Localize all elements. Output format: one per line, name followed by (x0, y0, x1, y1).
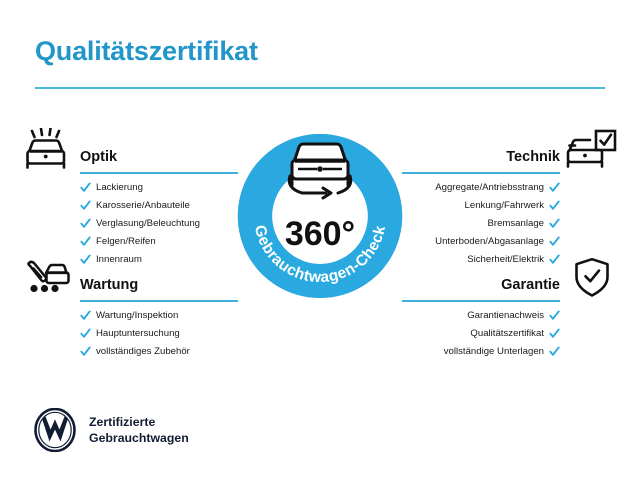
checklist: Aggregate/Antriebsstrang Lenkung/Fahrwer… (402, 182, 618, 265)
volkswagen-logo (33, 408, 77, 452)
list-item-label: Karosserie/Anbauteile (96, 201, 190, 211)
check-icon (80, 218, 91, 229)
check-icon (549, 310, 560, 321)
section-title: Wartung (80, 277, 138, 293)
car-checkbox-icon (566, 128, 618, 172)
footer-line-1: Zertifizierte (89, 414, 189, 430)
footer-logo-lockup: Zertifizierte Gebrauchtwagen (33, 408, 189, 452)
gebrauchtwagen-check-badge: 360° Gebrauchtwagen-Check (228, 112, 412, 312)
shield-check-icon (566, 256, 618, 300)
badge-degrees: 360° (285, 215, 355, 253)
list-item-label: vollständiges Zubehör (96, 347, 190, 357)
check-icon (549, 218, 560, 229)
check-icon (80, 346, 91, 357)
list-item-label: Bremsanlage (487, 219, 544, 229)
list-item-label: Aggregate/Antriebsstrang (435, 183, 544, 193)
list-item: Aggregate/Antriebsstrang (402, 182, 618, 193)
list-item: Wartung/Inspektion (22, 310, 238, 321)
check-icon (80, 200, 91, 211)
section-divider (80, 172, 238, 174)
section-divider (80, 300, 238, 302)
list-item: Karosserie/Anbauteile (22, 200, 238, 211)
list-item: Hauptuntersuchung (22, 328, 238, 339)
list-item: Qualitätszertifikat (402, 328, 618, 339)
car-rotate-icon (289, 144, 351, 198)
list-item: vollständige Unterlagen (402, 346, 618, 357)
checklist: Wartung/Inspektion Hauptuntersuchung vol… (22, 310, 238, 357)
check-icon (80, 310, 91, 321)
footer-text: Zertifizierte Gebrauchtwagen (89, 414, 189, 446)
footer-line-2: Gebrauchtwagen (89, 430, 189, 446)
list-item: Bremsanlage (402, 218, 618, 229)
list-item-label: Unterboden/Abgasanlage (435, 237, 544, 247)
section-optik: Optik Lackierung Karosserie/Anbauteile V… (22, 128, 238, 272)
page-title: Qualitätszertifikat (35, 36, 258, 67)
list-item: Felgen/Reifen (22, 236, 238, 247)
section-garantie: Garantie Garantienachweis Qualitätszerti… (402, 256, 618, 364)
list-item: Verglasung/Beleuchtung (22, 218, 238, 229)
section-wartung: Wartung Wartung/Inspektion Hauptuntersuc… (22, 256, 238, 364)
list-item-label: Qualitätszertifikat (470, 329, 544, 339)
list-item-label: Wartung/Inspektion (96, 311, 178, 321)
list-item-label: vollständige Unterlagen (444, 347, 544, 357)
check-icon (549, 346, 560, 357)
checklist: Garantienachweis Qualitätszertifikat vol… (402, 310, 618, 357)
section-title: Optik (80, 149, 117, 165)
section-header: Optik (22, 128, 238, 174)
list-item-label: Hauptuntersuchung (96, 329, 180, 339)
check-icon (549, 328, 560, 339)
section-divider (402, 172, 560, 174)
list-item: Lackierung (22, 182, 238, 193)
section-title: Technik (506, 149, 560, 165)
list-item-label: Garantienachweis (467, 311, 544, 321)
section-header: Garantie (402, 256, 618, 302)
check-icon (80, 328, 91, 339)
title-divider (35, 87, 605, 89)
list-item-label: Lenkung/Fahrwerk (465, 201, 544, 211)
section-header: Wartung (22, 256, 238, 302)
list-item-label: Lackierung (96, 183, 143, 193)
list-item-label: Verglasung/Beleuchtung (96, 219, 200, 229)
section-technik: Technik Aggregate/Antriebsstrang Lenkung… (402, 128, 618, 272)
list-item: vollständiges Zubehör (22, 346, 238, 357)
section-divider (402, 300, 560, 302)
list-item: Garantienachweis (402, 310, 618, 321)
list-item-label: Felgen/Reifen (96, 237, 156, 247)
list-item: Lenkung/Fahrwerk (402, 200, 618, 211)
check-icon (80, 182, 91, 193)
section-title: Garantie (501, 277, 560, 293)
list-item: Unterboden/Abgasanlage (402, 236, 618, 247)
check-icon (80, 236, 91, 247)
section-header: Technik (402, 128, 618, 174)
check-icon (549, 182, 560, 193)
check-icon (549, 236, 560, 247)
wrench-car-icon (22, 256, 74, 300)
check-icon (549, 200, 560, 211)
checklist: Lackierung Karosserie/Anbauteile Verglas… (22, 182, 238, 265)
car-shine-icon (22, 128, 74, 172)
